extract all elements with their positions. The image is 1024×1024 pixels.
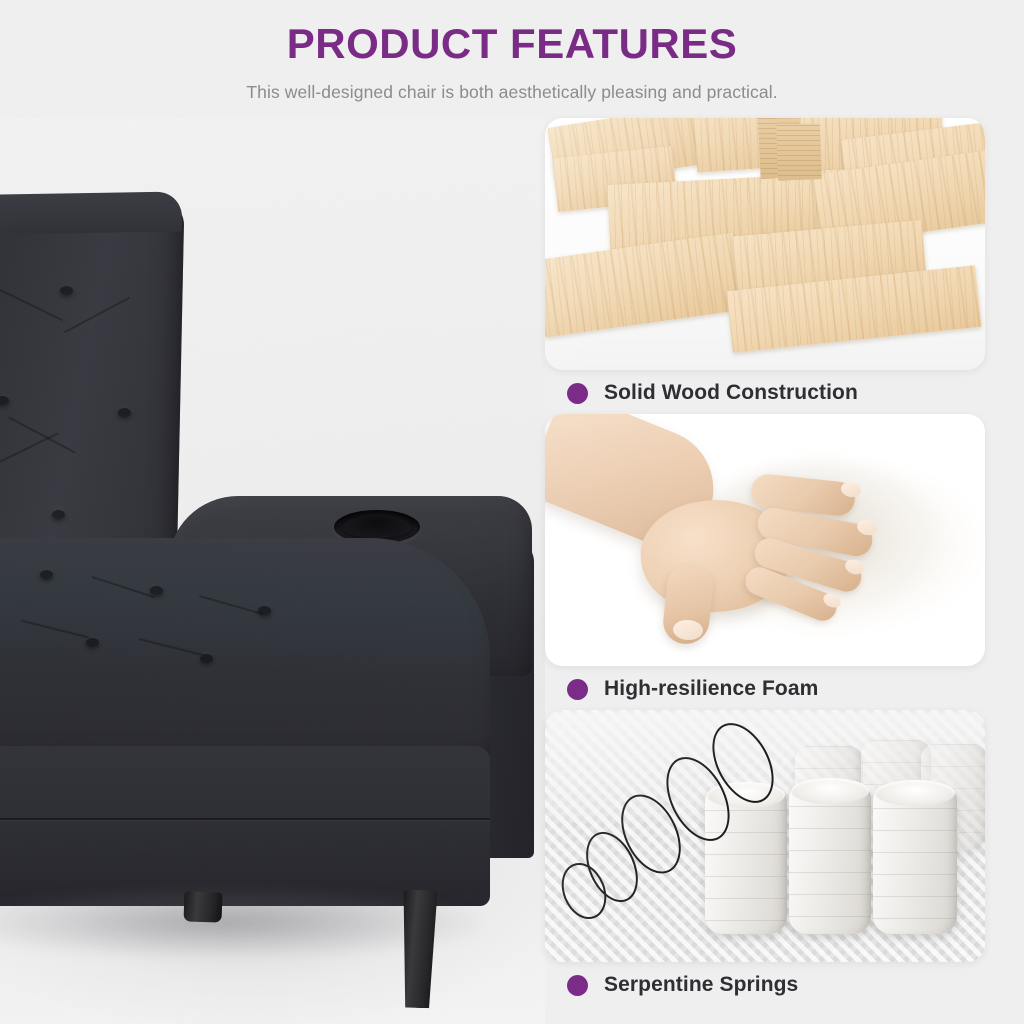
- feature-label-foam: High-resilience Foam: [545, 666, 995, 712]
- chair-backrest-top-edge: [0, 191, 182, 236]
- feature-label-solid-wood: Solid Wood Construction: [545, 370, 995, 416]
- tuft-button: [86, 638, 99, 647]
- bullet-dot-icon: [567, 679, 588, 700]
- tuft-button: [118, 408, 131, 417]
- page-title: PRODUCT FEATURES: [0, 18, 1024, 70]
- chair-seat: [0, 538, 490, 768]
- bullet-dot-icon: [567, 383, 588, 404]
- wood-planks-photo: [545, 118, 985, 370]
- chair-base-skirt: [0, 746, 490, 906]
- feature-label-springs: Serpentine Springs: [545, 962, 995, 1008]
- chair-base-seam: [0, 818, 490, 820]
- feature-item-solid-wood: Solid Wood Construction: [545, 118, 995, 416]
- tuft-button: [60, 286, 73, 295]
- tuft-button: [40, 570, 53, 579]
- page-subtitle: This well-designed chair is both aesthet…: [0, 80, 1024, 104]
- wood-plank: [545, 232, 743, 337]
- pocket-spring-top: [791, 778, 869, 804]
- pocket-spring: [789, 784, 871, 934]
- feature-image-foam: [545, 414, 985, 666]
- pocket-spring: [873, 786, 957, 934]
- header: PRODUCT FEATURES This well-designed chai…: [0, 0, 1024, 118]
- product-features-infographic: PRODUCT FEATURES This well-designed chai…: [0, 0, 1024, 1024]
- feature-item-springs: Serpentine Springs: [545, 710, 995, 1008]
- cup-holder-well: [343, 516, 411, 538]
- feature-image-springs: [545, 710, 985, 962]
- wood-plank-end-grain: [776, 123, 822, 181]
- feature-label-text: Solid Wood Construction: [604, 381, 858, 405]
- feature-label-text: Serpentine Springs: [604, 973, 798, 997]
- chair-leg: [183, 891, 222, 922]
- springs-photo: [545, 710, 985, 962]
- tuft-button: [52, 510, 65, 519]
- product-photo: [0, 118, 545, 1024]
- feature-label-text: High-resilience Foam: [604, 677, 818, 701]
- pocket-spring-top: [875, 780, 955, 806]
- feature-image-solid-wood: [545, 118, 985, 370]
- tuft-button: [150, 586, 163, 595]
- foam-photo: [545, 414, 985, 666]
- bullet-dot-icon: [567, 975, 588, 996]
- feature-item-foam: High-resilience Foam: [545, 414, 995, 712]
- feature-list: Solid Wood Construction: [545, 118, 1024, 1024]
